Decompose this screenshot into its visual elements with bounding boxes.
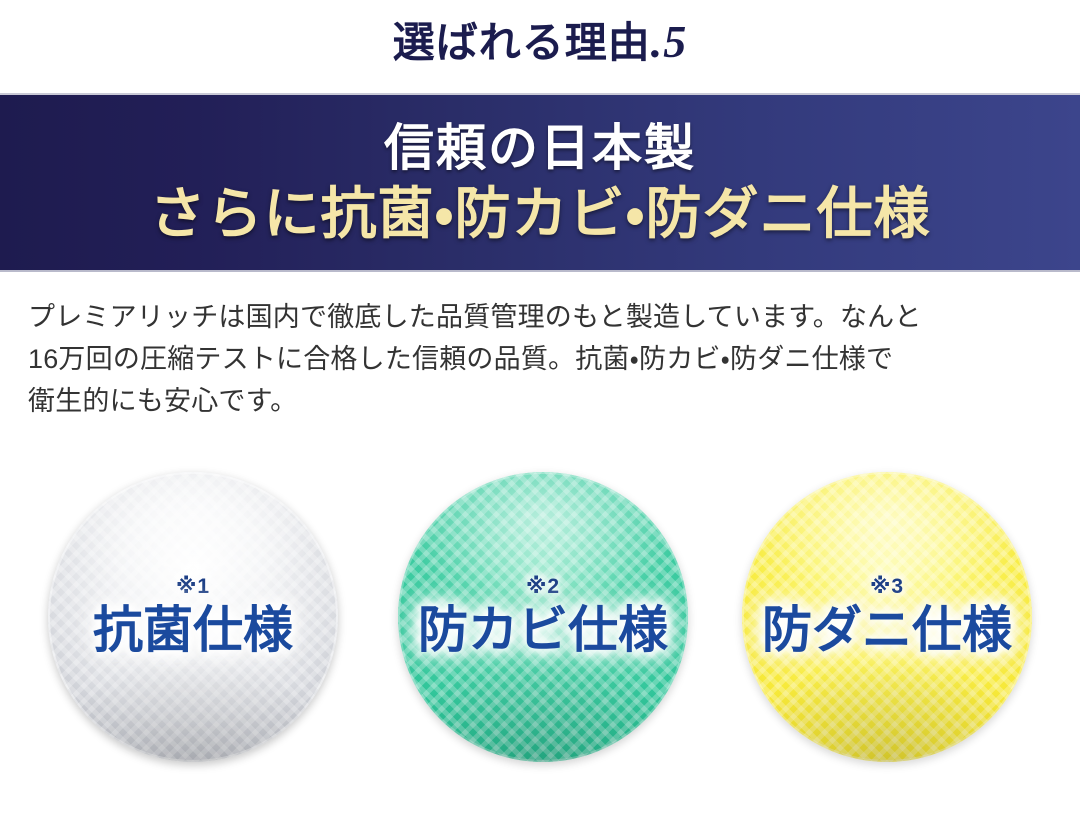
body-line-1: プレミアリッチは国内で徹底した品質管理のもと製造しています。なんと [28,296,1052,338]
badge-content: ※2 防カビ仕様 [398,575,688,659]
headline-secondary: さらに抗菌・防カビ・防ダニ仕様 [149,180,930,248]
page-title-text: 選ばれる理由 [393,21,651,67]
badge-footnote-marker: ※3 [870,575,904,599]
badge-label: 防ダニ仕様 [762,601,1012,659]
badge-content: ※3 防ダニ仕様 [742,575,1032,659]
page-title: 選ばれる理由.5 [0,14,1080,72]
badge-label: 防カビ仕様 [418,601,668,659]
headline-banner: 信頼の日本製 さらに抗菌・防カビ・防ダニ仕様 [0,93,1080,272]
badge-footnote-marker: ※1 [176,575,210,599]
feature-badge-antimite: ※3 防ダニ仕様 [742,472,1032,762]
page-title-number: .5 [651,16,688,67]
feature-badge-antibacterial: ※1 抗菌仕様 [48,472,338,762]
badge-label: 抗菌仕様 [93,601,293,659]
feature-badge-antimold: ※2 防カビ仕様 [398,472,688,762]
badge-footnote-marker: ※2 [526,575,560,599]
body-line-2: 16万回の圧縮テストに合格した信頼の品質。抗菌・防カビ・防ダニ仕様で [28,338,1052,380]
feature-badge-row: ※1 抗菌仕様 ※2 防カビ仕様 ※3 防ダニ仕様 [0,472,1080,772]
headline-primary: 信頼の日本製 [384,118,696,178]
badge-content: ※1 抗菌仕様 [48,575,338,659]
body-line-3: 衛生的にも安心です。 [28,380,1052,422]
body-paragraph: プレミアリッチは国内で徹底した品質管理のもと製造しています。なんと 16万回の圧… [28,296,1052,422]
